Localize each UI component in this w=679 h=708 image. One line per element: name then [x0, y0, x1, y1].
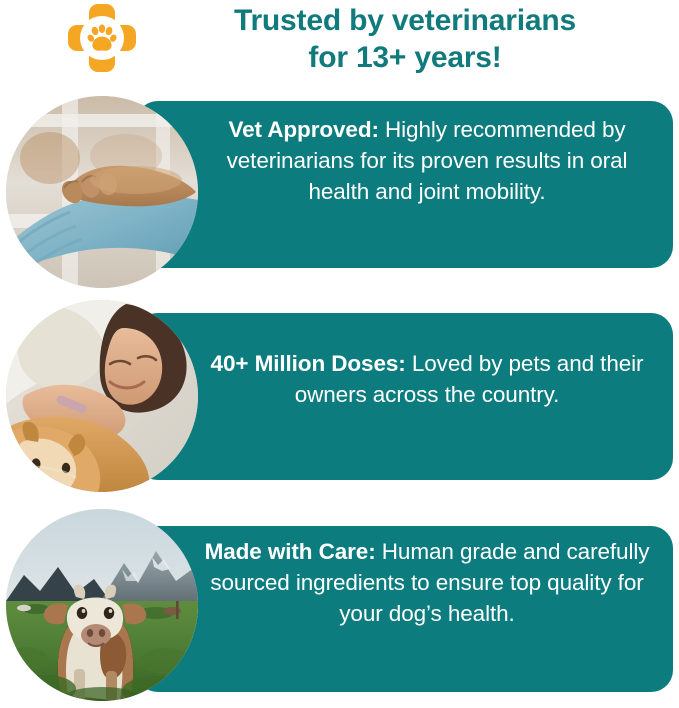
- paw-print-icon: [80, 16, 124, 60]
- cow-in-alpine-pasture-photo: [6, 509, 198, 701]
- benefit-card-2-heading: 40+ Million Doses:: [211, 351, 406, 376]
- benefit-card-1-text: Vet Approved: Highly recommended by vete…: [196, 114, 658, 207]
- benefit-card-3-heading: Made with Care:: [205, 539, 376, 564]
- page-title-line-1: Trusted by veterinarians: [150, 2, 660, 39]
- benefit-card-3-text: Made with Care: Human grade and carefull…: [196, 536, 658, 629]
- benefit-card-2-text: 40+ Million Doses: Loved by pets and the…: [196, 348, 658, 410]
- header: Trusted by veterinarians for 13+ years!: [0, 0, 679, 95]
- infographic-root: Trusted by veterinarians for 13+ years! …: [0, 0, 679, 708]
- dog-paw-on-gloved-hand-photo: [6, 96, 198, 288]
- veterinary-cross-paw-icon: [68, 4, 136, 72]
- woman-hugging-shiba-inu-photo: [6, 300, 198, 492]
- page-title: Trusted by veterinarians for 13+ years!: [150, 2, 660, 76]
- benefit-card-1-heading: Vet Approved:: [228, 117, 378, 142]
- page-title-line-2: for 13+ years!: [150, 39, 660, 76]
